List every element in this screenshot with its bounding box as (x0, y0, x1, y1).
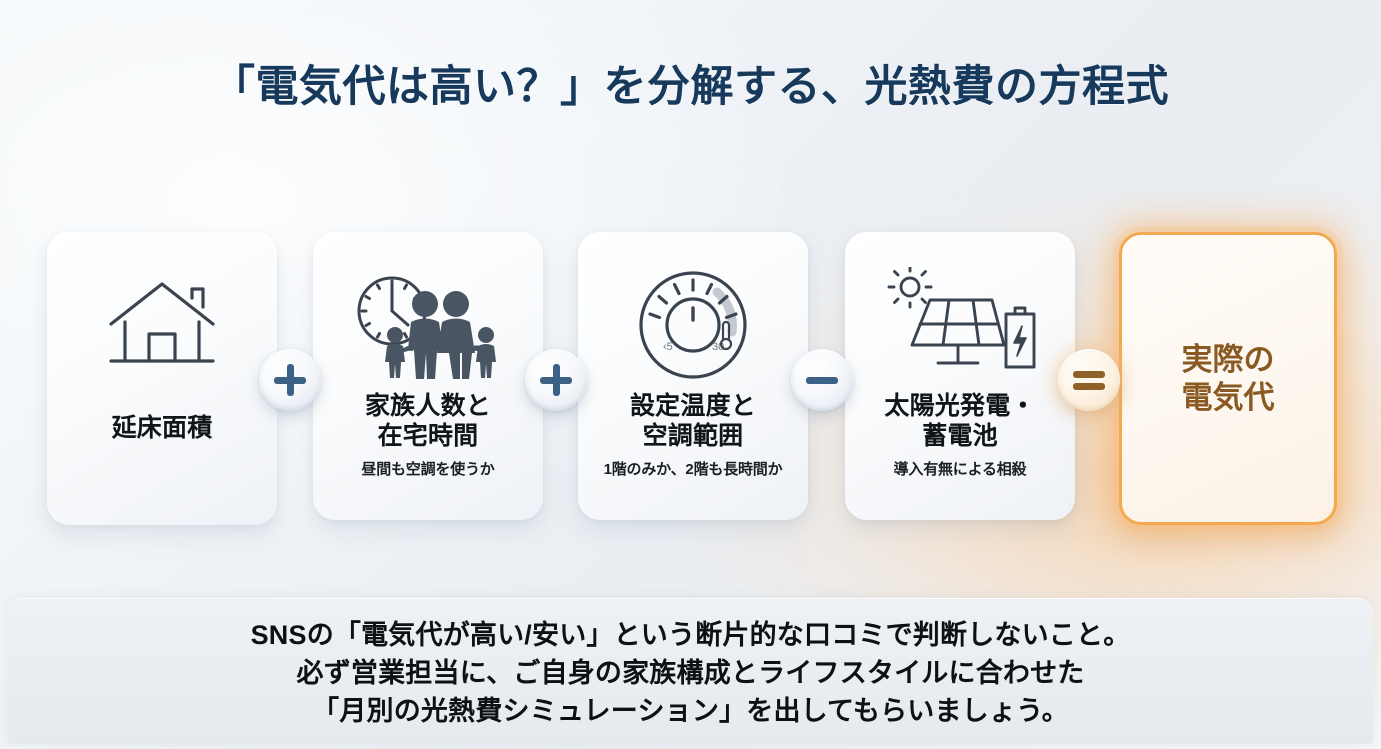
equation-row: 延床面積 (47, 232, 1337, 532)
factor-card-family-hours[interactable]: 家族人数と 在宅時間 昼間も空調を使うか (313, 232, 543, 520)
card-label: 設定温度と 空調範囲 (630, 392, 756, 451)
factor-card-solar-battery[interactable]: 太陽光発電・ 蓄電池 導入有無による相殺 (845, 232, 1075, 520)
plus-icon (273, 363, 307, 397)
card-label-line1: 太陽光発電・ (884, 392, 1035, 422)
infographic-stage: 「電気代は高い？」を分解する、光熱費の方程式 延床面積 (0, 0, 1381, 749)
minus-icon (805, 363, 839, 397)
plus-icon (539, 363, 573, 397)
card-label-line2: 空調範囲 (630, 422, 756, 452)
result-card-actual-bill[interactable]: 実際の 電気代 (1119, 232, 1337, 525)
card-label: 延床面積 (112, 414, 213, 444)
card-label-line1: 家族人数と (365, 392, 491, 422)
clock-family-icon (352, 266, 504, 384)
svg-text:‹5: ‹5 (663, 341, 673, 353)
minus-operator (791, 349, 853, 411)
card-label: 太陽光発電・ 蓄電池 (884, 392, 1035, 451)
factor-card-temperature-zone[interactable]: ‹5 30 設定温度と 空調範囲 1階のみか、2階も長時間か (578, 232, 808, 520)
plus-operator (525, 349, 587, 411)
solar-battery-icon (884, 266, 1036, 384)
factor-card-floor-area[interactable]: 延床面積 (47, 232, 277, 525)
card-subtitle: 昼間も空調を使うか (361, 458, 494, 479)
card-subtitle: 1階のみか、2階も長時間か (604, 458, 783, 479)
house-icon (106, 266, 218, 384)
card-label: 家族人数と 在宅時間 (365, 392, 491, 451)
thermostat-dial-icon: ‹5 30 (634, 266, 752, 384)
advice-note-panel: SNSの「電気代が高い/安い」という断片的な口コミで判断しないこと。 必ず営業担… (8, 598, 1373, 744)
result-label: 実際の 電気代 (1182, 341, 1275, 417)
card-label-line2: 蓄電池 (884, 422, 1035, 452)
equals-operator (1058, 349, 1120, 411)
note-line-2: 必ず営業担当に、ご自身の家族構成とライフスタイルに合わせた (297, 654, 1085, 692)
card-label-line2: 在宅時間 (365, 422, 491, 452)
plus-operator (259, 349, 321, 411)
note-line-1: SNSの「電気代が高い/安い」という断片的な口コミで判断しないこと。 (251, 616, 1131, 654)
equals-icon (1072, 363, 1106, 397)
card-subtitle: 導入有無による相殺 (894, 458, 1027, 479)
result-label-line1: 実際の (1182, 341, 1275, 379)
page-title: 「電気代は高い？」を分解する、光熱費の方程式 (0, 52, 1381, 114)
result-label-line2: 電気代 (1182, 379, 1275, 417)
card-label-line1: 設定温度と (630, 392, 756, 422)
note-line-3: 「月別の光熱費シミュレーション」を出してもらいましょう。 (312, 692, 1069, 730)
